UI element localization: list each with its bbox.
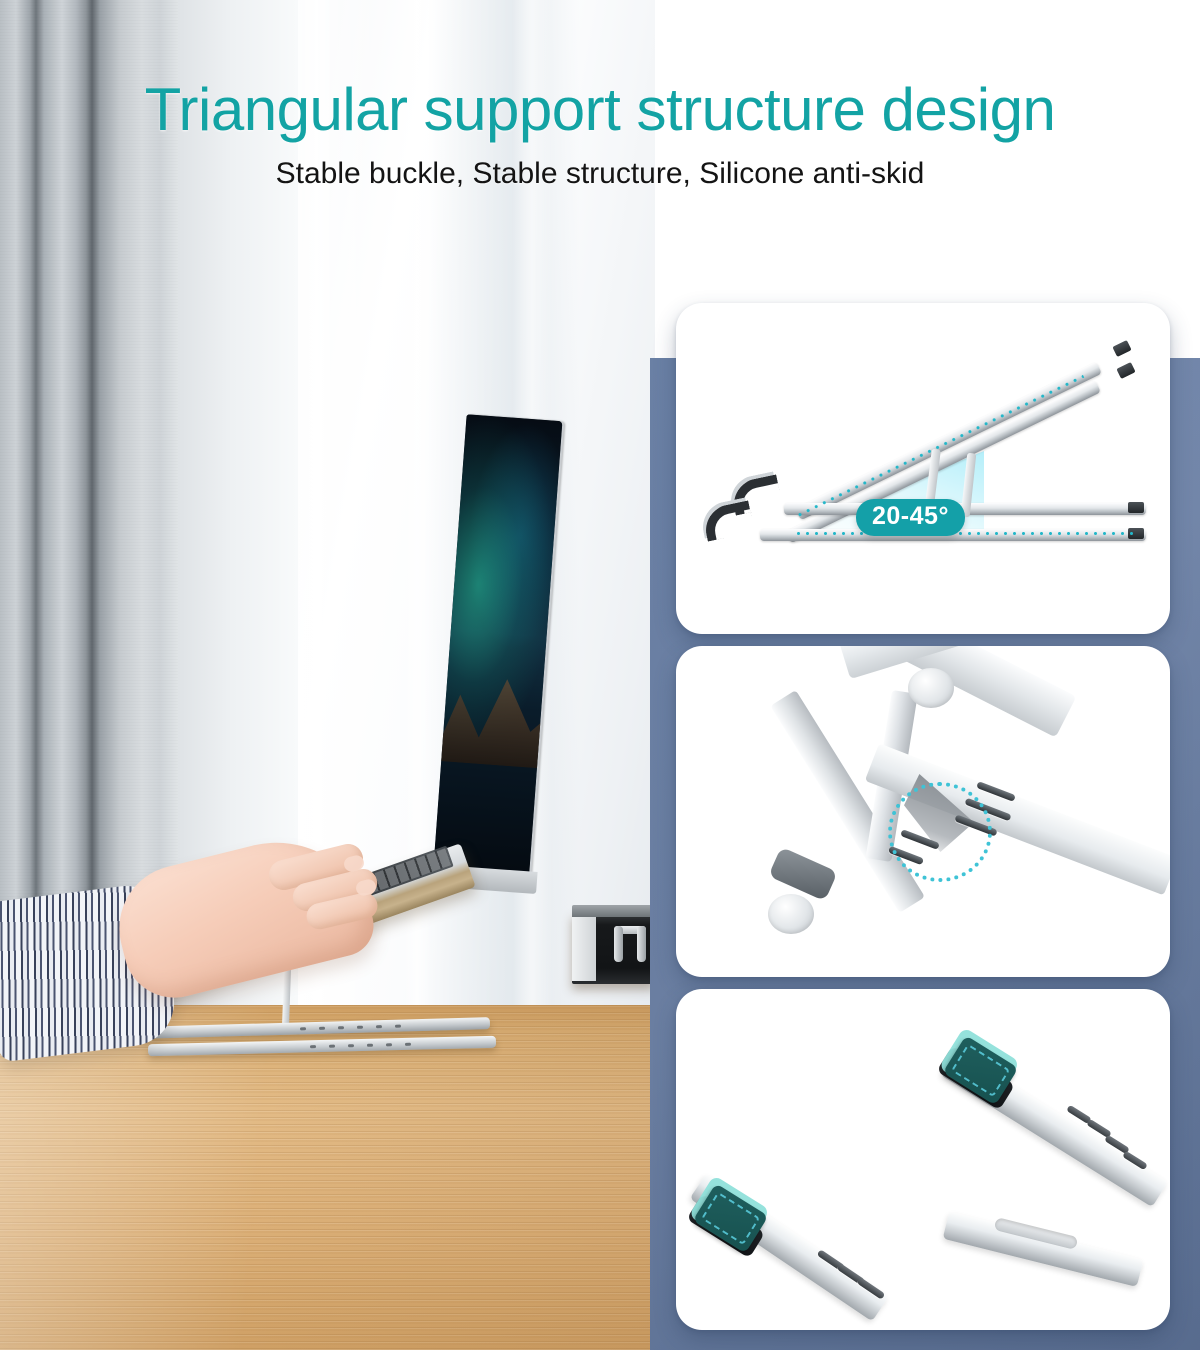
speaker-logo-stroke — [614, 926, 623, 962]
page-title: Triangular support structure design — [0, 0, 1200, 141]
speaker-top-face — [572, 905, 655, 917]
rubber-foot-pad — [768, 847, 838, 901]
rail-end-cap — [1116, 362, 1135, 379]
rail-end-cap — [1128, 502, 1144, 513]
angle-range-badge: 20-45° — [856, 499, 965, 536]
lifestyle-photo — [0, 0, 655, 1350]
wooden-desk — [0, 1005, 655, 1350]
hero-text-block: Triangular support structure design Stab… — [0, 0, 1200, 191]
stable-buckle-card — [676, 646, 1170, 977]
angle-dotted-baseline — [794, 532, 1134, 535]
page-subtitle: Stable buckle, Stable structure, Silicon… — [0, 141, 1200, 191]
speaker-side-face — [572, 917, 596, 981]
speaker-logo-stroke — [637, 926, 646, 962]
hinge-pivot-knob — [908, 668, 954, 708]
angle-range-card: 20-45° — [676, 303, 1170, 634]
silicone-pad-card — [676, 989, 1170, 1330]
hinge-pivot-knob — [768, 894, 814, 934]
page-canvas: 20-45° — [0, 0, 1200, 1350]
rail-end-cap — [1112, 340, 1131, 357]
buckle-highlight-circle — [888, 782, 992, 882]
stand-leg-bar — [943, 1211, 1144, 1287]
front-lip-rubber — [701, 500, 755, 541]
